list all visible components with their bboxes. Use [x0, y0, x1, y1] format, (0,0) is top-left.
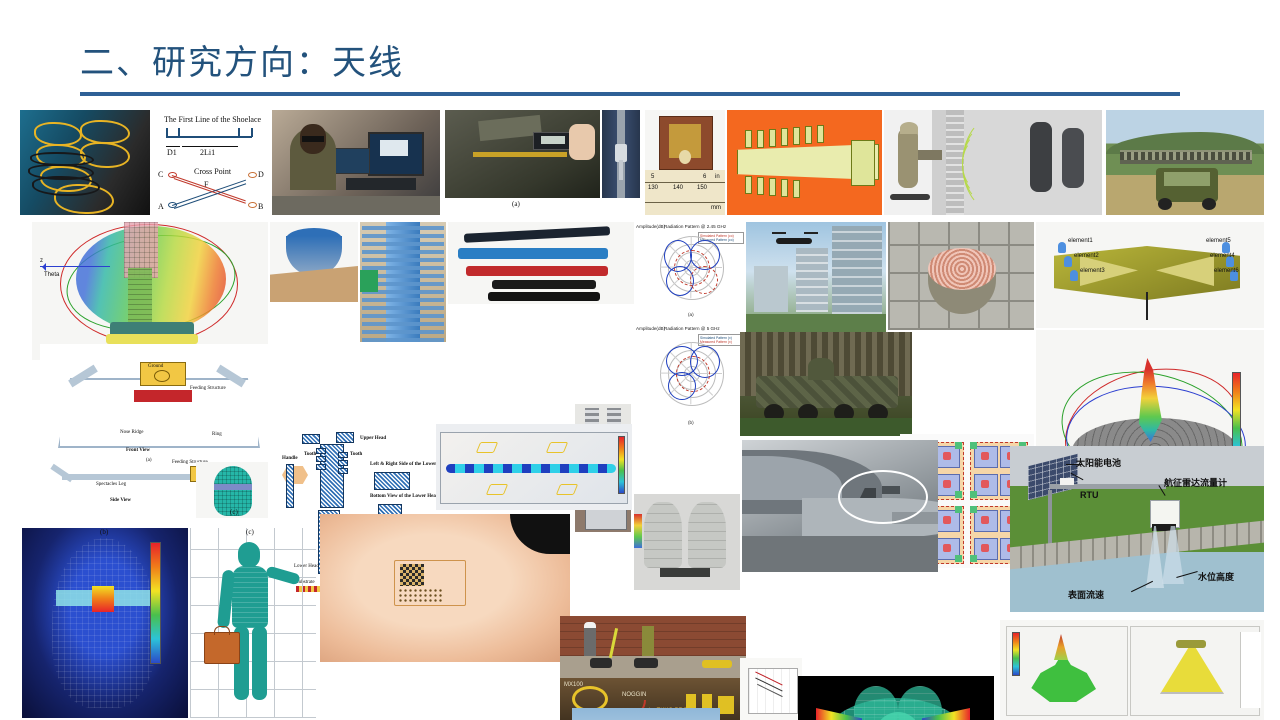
- shoelace-label-crosspoint: Cross Point: [194, 167, 231, 176]
- polar1-title: Radiation Pattern @ 2.45 GHz: [664, 224, 726, 229]
- collage-item-zipper-samples-photo: [448, 222, 634, 304]
- polar2-title: Radiation Pattern @ 5 GHz: [664, 326, 720, 331]
- collage-item-researcher-photo: [272, 110, 440, 215]
- pattern-axis-label-z: z: [40, 258, 43, 264]
- flowmeter-label-surfacevelocity: 表面流速: [1068, 588, 1104, 601]
- page-title: 二、研究方向：天线: [80, 34, 1180, 92]
- slide-root: 二、研究方向：天线 The First Line of the Shoelace: [0, 0, 1280, 720]
- shoelace-label-b: B: [258, 202, 263, 211]
- ruler-label-in: in: [715, 174, 720, 180]
- flowmeter-label-radar: 航征雷达流量计: [1164, 476, 1227, 489]
- collage-item-polar-pattern-1: Amplitude(dB) Radiation Pattern @ 2.45 G…: [634, 222, 744, 322]
- shoelace-label-d: D: [258, 170, 264, 179]
- ruler-label-5: 5: [651, 174, 654, 180]
- polar2-ylabel: Amplitude(dB): [636, 326, 665, 331]
- collage-item-zipper-cad-blue: [360, 222, 446, 342]
- title-area: 二、研究方向：天线: [80, 34, 1180, 96]
- collage-item-body-briefcase-mesh: (c): [190, 528, 316, 718]
- collage-item-gpr-survey-photo: [560, 616, 746, 678]
- jacket-caption: (a): [512, 200, 520, 208]
- collage-item-through-wall-radar: [884, 110, 1102, 215]
- spectacles-label-leg: Spectacles Leg: [96, 482, 126, 487]
- zipper-label-sides-lower: Bottom View of the Lower Head: [370, 494, 439, 499]
- collage-item-zipper-closeup-photo: [602, 110, 640, 198]
- collage-item-vivaldi-cad-orange: [727, 110, 882, 215]
- zipper-label-upperhead: Upper Head: [360, 436, 386, 441]
- gpr-label-mx100: MX100: [564, 682, 583, 688]
- collage-item-sar-head-sim: (b): [22, 528, 188, 718]
- ruler-label-130: 130: [648, 185, 658, 191]
- collage-item-aircraft-beams: [572, 708, 720, 720]
- shoelace-label-2li1: 2Li1: [200, 148, 215, 157]
- collage-item-armored-vehicle-photo: [740, 332, 912, 436]
- collage-item-array-cad-6element: element1 element2 element3 element5 elem…: [1036, 222, 1264, 328]
- collage-item-hfss-screenshot: [1000, 620, 1264, 720]
- collage-item-shoe-antenna-photo: [20, 110, 150, 215]
- zipper-label-tooth-right: Tooth: [350, 452, 362, 457]
- collage-item-epidermal-patch-photo: [320, 514, 570, 662]
- collage-item-gpr-bscan: [740, 658, 802, 720]
- spectacles-label-ground: Ground: [148, 364, 163, 369]
- array-label-element4: element5: [1206, 238, 1231, 244]
- spectacles-label-frontview: Front View: [126, 448, 150, 453]
- spectacles-caption-a: (a): [146, 458, 152, 463]
- collage-item-polar-pattern-2: Amplitude(dB) Radiation Pattern @ 5 GHz …: [634, 324, 744, 430]
- array-label-element5: element4: [1210, 253, 1235, 259]
- array-label-element6: element6: [1214, 268, 1239, 274]
- ruler-label-6: 6: [703, 174, 706, 180]
- sar-head-caption-b: (b): [100, 528, 108, 536]
- flowmeter-label-waterlevel: 水位高度: [1198, 570, 1234, 583]
- zipper-label-handle: Handle: [282, 456, 298, 461]
- collage-item-head-mesh-teal: (c): [196, 462, 268, 518]
- collage-item-fighter-jet-photo: [742, 440, 938, 572]
- polar2-legend-item-1: Measured Pattern (x): [700, 340, 742, 344]
- collage-item-leaky-wave-sim: [436, 424, 632, 510]
- collage-item-jacket-zipper-photo: [445, 110, 600, 198]
- collage-item-horn-pair-photo: [634, 494, 740, 590]
- ruler-label-140: 140: [673, 185, 683, 191]
- collage-item-spiral-antenna-photo: [888, 222, 1034, 330]
- spectacles-label-ring: Ring: [212, 432, 222, 437]
- shoelace-label-c: C: [158, 170, 163, 179]
- image-collage: The First Line of the Shoelace D1 2Li1 C…: [0, 104, 1280, 720]
- shoelace-label-a: A: [158, 202, 164, 211]
- shoelace-diagram-title: The First Line of the Shoelace: [164, 115, 261, 124]
- collage-item-drone-city-photo: [746, 222, 886, 332]
- spectacles-label-sideview: Side View: [110, 498, 131, 503]
- flowmeter-label-rtu: RTU: [1080, 490, 1099, 500]
- collage-item-pcb-antenna-ruler-photo: 5 6 in 130 140 150 mm: [645, 110, 725, 215]
- collage-item-cup-antenna-cad: [270, 222, 358, 302]
- polar1-ylabel: Amplitude(dB): [636, 224, 665, 229]
- shoelace-label-d1: D1: [167, 148, 177, 157]
- collage-item-radiation-pattern-3d-green: z Theta: [32, 222, 268, 360]
- flowmeter-label-solar: 太阳能电池: [1076, 456, 1121, 469]
- zipper-label-bottomview-lower: Left & Right Side of the Lower Head: [370, 462, 446, 467]
- array-label-element2: element2: [1074, 253, 1099, 259]
- gpr-label-noggin: NOGGIN: [622, 692, 646, 698]
- array-label-element1: element1: [1068, 238, 1093, 244]
- polar1-caption: (a): [688, 312, 694, 317]
- array-label-element3: element3: [1080, 268, 1105, 274]
- title-underline: [80, 92, 1180, 96]
- polar2-caption: (b): [688, 420, 694, 425]
- ruler-label-mm: mm: [711, 205, 721, 211]
- headmesh-caption-c: (c): [230, 508, 238, 516]
- collage-item-truck-array-photo: [1106, 110, 1264, 215]
- collage-item-shoelace-diagram: The First Line of the Shoelace D1 2Li1 C…: [152, 110, 270, 215]
- ruler-label-150: 150: [697, 185, 707, 191]
- spectacles-label-feeding: Feeding Structure: [190, 386, 226, 391]
- collage-item-pattern-3d-black: [798, 676, 994, 720]
- zipper-label-tooth-left: Tooth: [304, 452, 316, 457]
- collage-item-radar-flowmeter-diagram: 太阳能电池 RTU 航征雷达流量计 水位高度 表面流速: [1010, 446, 1264, 612]
- body-caption-c: (c): [246, 528, 254, 536]
- pattern-axis-label-theta: Theta: [44, 272, 59, 278]
- spectacles-label-noseridge: Nose Ridge: [120, 430, 143, 435]
